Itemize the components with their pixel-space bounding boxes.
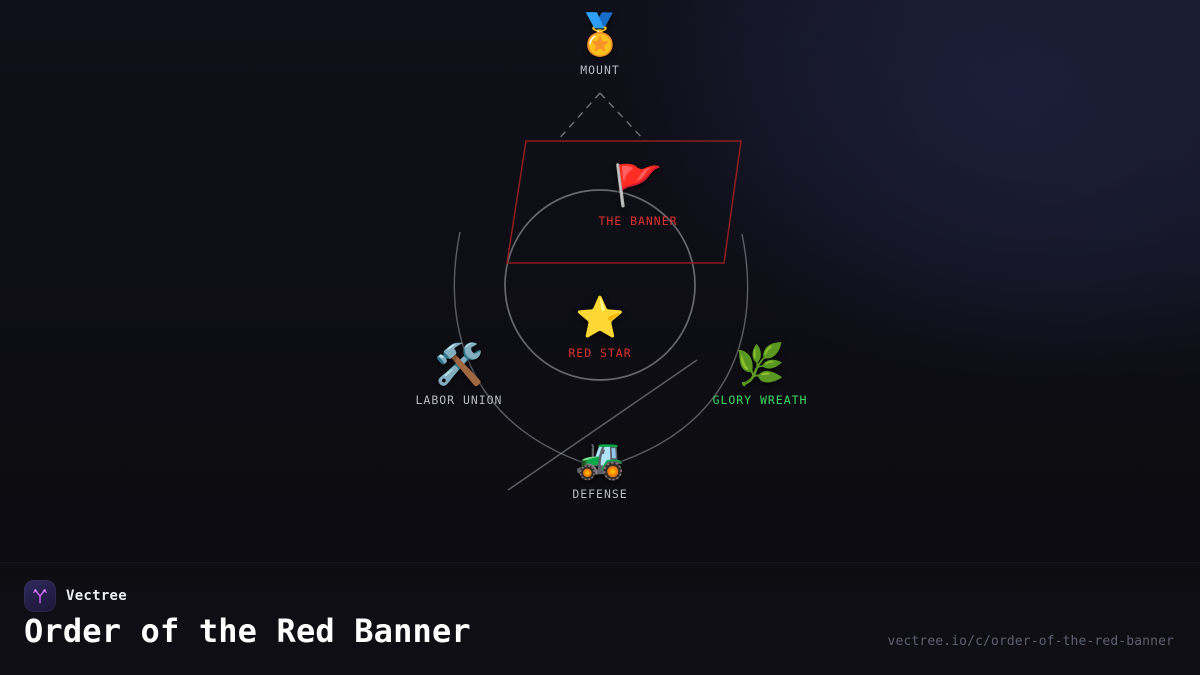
hammer-and-wrench-emoji: 🛠️ <box>434 343 484 387</box>
vectree-logo <box>24 580 56 612</box>
medal-emoji: 🏅 <box>575 13 625 57</box>
graph-node-the-banner[interactable]: 🚩 THE BANNER <box>543 164 733 228</box>
slide-footer: Vectree Order of the Red Banner vectree.… <box>0 562 1200 675</box>
graph-node-label: RED STAR <box>568 346 631 360</box>
graph-node-label: LABOR UNION <box>416 393 503 407</box>
graph-node-label: DEFENSE <box>572 487 627 501</box>
page-title: Order of the Red Banner <box>24 612 471 650</box>
slide-canvas: 🏅 MOUNT 🚩 THE BANNER ⭐ RED STAR 🛠️ LABOR… <box>0 0 1200 675</box>
star-emoji: ⭐ <box>575 296 625 340</box>
brand-name: Vectree <box>66 588 127 604</box>
brand-row: Vectree <box>24 580 127 612</box>
triangular-flag-emoji: 🚩 <box>613 164 663 208</box>
graph-node-labor-union[interactable]: 🛠️ LABOR UNION <box>364 343 554 407</box>
graph-node-glory-wreath[interactable]: 🌿 GLORY WREATH <box>665 343 855 407</box>
graph-node-mount[interactable]: 🏅 MOUNT <box>505 13 695 77</box>
deck-url: vectree.io/c/order-of-the-red-banner <box>888 634 1174 649</box>
edge-mount-right <box>600 93 645 141</box>
herb-emoji: 🌿 <box>735 343 785 387</box>
concept-graph[interactable]: 🏅 MOUNT 🚩 THE BANNER ⭐ RED STAR 🛠️ LABOR… <box>0 0 1200 560</box>
tractor-emoji: 🚜 <box>575 437 625 481</box>
graph-node-label: MOUNT <box>580 63 620 77</box>
graph-node-label: THE BANNER <box>598 214 677 228</box>
graph-node-defense[interactable]: 🚜 DEFENSE <box>505 437 695 501</box>
edge-mount-left <box>557 93 600 141</box>
graph-node-label: GLORY WREATH <box>713 393 808 407</box>
